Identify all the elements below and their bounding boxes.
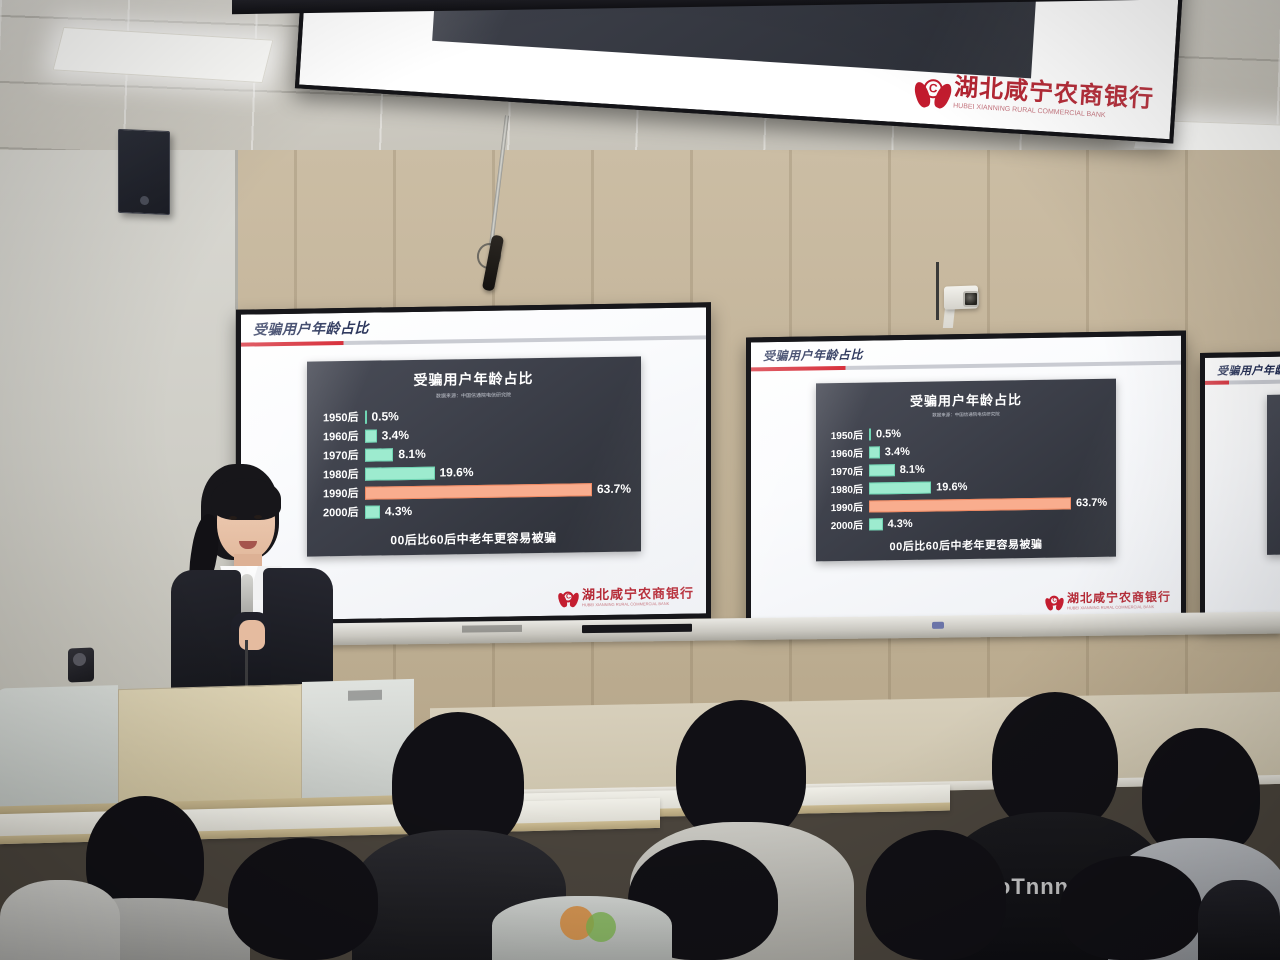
audience-head: [676, 700, 806, 842]
chart-bar: [365, 429, 377, 442]
chart-bar-label: 1980后: [823, 481, 863, 497]
presenter-eye: [229, 516, 237, 520]
chart-bar: [869, 518, 883, 530]
chart-bar-row: 2000后4.3%: [315, 499, 641, 520]
wall-camera-lens-icon: [963, 291, 979, 307]
chart-bar-label: 1950后: [315, 409, 359, 426]
chart-card: 受骗用户年龄占比 数据来源：中国信通院电信研究院 1950后0.5%1960后3…: [307, 356, 641, 556]
audience-shirt-logo: [586, 912, 616, 942]
chart-source: 数据来源：中国信通院电信研究院: [816, 410, 1116, 421]
chart-bar-value: 0.5%: [372, 409, 399, 423]
slide-header-title: 受骗用户年龄占比: [1217, 361, 1280, 379]
chart-bar-row: 1960后3.4%: [823, 441, 1116, 461]
chart-bar-value: 4.3%: [888, 517, 913, 529]
chart-bar: [365, 466, 435, 480]
shelf-indicator: [932, 622, 944, 629]
chart-bar-value: 19.6%: [936, 480, 967, 492]
chart-bar: [869, 464, 895, 476]
chart-bar-row: 1960后3.4%: [315, 423, 641, 444]
slide-header: 受骗用户年龄占比: [751, 336, 1181, 373]
chart-bar-row: 1990后63.7%: [823, 495, 1116, 515]
chart-card: [1267, 392, 1280, 555]
chart-bar-value: 4.3%: [385, 504, 412, 518]
chart-bar-value: 8.1%: [900, 463, 925, 475]
slide-secondary: 受骗用户年龄占比 受骗用户年龄占比 数据来源：中国信通院电信研究院 1950后0…: [751, 336, 1181, 623]
audience-head: [1060, 856, 1202, 960]
third-display[interactable]: 受骗用户年龄占比: [1200, 351, 1280, 625]
wall-camera-arm: [936, 262, 939, 320]
chart-bar-label: 1970后: [823, 463, 863, 479]
podium-front-panel: [118, 684, 302, 809]
chart-bar: [365, 505, 380, 518]
audience-head: [866, 830, 1006, 960]
chart-card: 受骗用户年龄占比 数据来源：中国信通院电信研究院 1950后0.5%1960后3…: [816, 379, 1116, 562]
audience-torso: [1198, 880, 1280, 960]
chart-bar-row: 1970后8.1%: [823, 459, 1116, 479]
presenter: [165, 462, 345, 712]
slide-brand-logo: C 湖北咸宁农商银行 HUBEI XIANNING RURAL COMMERCI…: [559, 587, 694, 608]
chart-bar-value: 63.7%: [1076, 496, 1107, 508]
slide-header-title: 受骗用户年龄占比: [253, 312, 706, 339]
shelf-slot: [582, 624, 692, 633]
secondary-display[interactable]: 受骗用户年龄占比 受骗用户年龄占比 数据来源：中国信通院电信研究院 1950后0…: [746, 331, 1186, 628]
audience-torso: [0, 880, 120, 960]
slide-third: 受骗用户年龄占比: [1205, 356, 1280, 620]
bank-logo-mark-icon: C: [1046, 593, 1063, 610]
presenter-hand: [239, 620, 265, 650]
chart-caption: 00后比60后中老年更容易被骗: [307, 527, 641, 549]
chart-bar-label: 1950后: [823, 427, 863, 443]
bank-name-cn: 湖北咸宁农商银行: [1067, 591, 1171, 605]
chart-caption: 00后比60后中老年更容易被骗: [816, 535, 1116, 556]
podium-left-panel: [0, 685, 118, 808]
chart-title: 受骗用户年龄占比: [816, 388, 1116, 412]
bank-logo-mark-icon: C: [915, 73, 951, 109]
chart-bar-row: 2000后4.3%: [823, 513, 1116, 533]
chart-bar-label: 2000后: [823, 517, 863, 533]
chart-bar: [365, 483, 593, 500]
bank-logo-mark-icon: C: [559, 588, 578, 607]
podium-nameplate: [348, 690, 382, 701]
chart-rows: 1950后0.5%1960后3.4%1970后8.1%1980后19.6%199…: [816, 423, 1116, 533]
chart-bar-value: 3.4%: [885, 445, 910, 457]
chart-bar: [869, 481, 931, 494]
chart-bar-row: 1970后8.1%: [315, 442, 641, 463]
chart-bar-value: 63.7%: [597, 482, 631, 497]
chart-bar: [365, 448, 394, 461]
bank-name-en: HUBEI XIANNING RURAL COMMERCIAL BANK: [1067, 605, 1171, 611]
slide-header: 受骗用户年龄占比: [1205, 356, 1280, 386]
chart-bar-value: 0.5%: [876, 428, 901, 440]
chart-title: 受骗用户年龄占比: [307, 366, 641, 391]
chart-rows: 1950后0.5%1960后3.4%1970后8.1%1980后19.6%199…: [307, 404, 641, 520]
shelf-label: [462, 625, 522, 633]
bank-name-en: HUBEI XIANNING RURAL COMMERCIAL BANK: [582, 602, 694, 608]
bank-logo-text: 湖北咸宁农商银行 HUBEI XIANNING RURAL COMMERCIAL…: [953, 76, 1155, 122]
chart-bar-label: 1960后: [315, 428, 359, 445]
bank-logo-text: 湖北咸宁农商银行 HUBEI XIANNING RURAL COMMERCIAL…: [1067, 591, 1171, 611]
audience-head: [228, 838, 378, 960]
presenter-eye: [254, 515, 262, 519]
bank-logo-text: 湖北咸宁农商银行 HUBEI XIANNING RURAL COMMERCIAL…: [582, 587, 694, 608]
chart-bar-value: 3.4%: [382, 428, 409, 442]
chart-bar-row: 1950后0.5%: [315, 404, 641, 425]
wall-speaker-icon: [118, 129, 170, 215]
chart-source: 数据来源：中国信通院电信研究院: [307, 389, 641, 401]
chart-bar: [365, 410, 367, 423]
lecture-hall-scene: 00后比60后中老年更容易被骗 C 湖北咸宁农商银行 HUBEI XIANNIN…: [0, 0, 1280, 960]
overhead-chart-strip: 00后比60后中老年更容易被骗: [432, 0, 1039, 78]
chart-bar-row: 1980后19.6%: [315, 461, 641, 482]
slide-header: 受骗用户年龄占比: [241, 307, 706, 348]
bank-name-cn: 湖北咸宁农商银行: [582, 587, 694, 602]
chart-bar-label: 1990后: [823, 499, 863, 515]
overhead-brand-logo: C 湖北咸宁农商银行 HUBEI XIANNING RURAL COMMERCI…: [915, 73, 1155, 122]
chart-bar: [869, 446, 880, 458]
presenter-fringe: [211, 478, 281, 520]
slide-header-rule: [1205, 379, 1280, 385]
chart-bar-label: 1960后: [823, 445, 863, 461]
audience-head: [992, 692, 1118, 832]
chart-bar-value: 19.6%: [440, 465, 474, 480]
chart-bar: [869, 428, 871, 440]
chart-bar-value: 8.1%: [398, 447, 425, 461]
chart-bar-row: 1980后19.6%: [823, 477, 1116, 497]
slide-brand-logo: C 湖北咸宁农商银行 HUBEI XIANNING RURAL COMMERCI…: [1046, 591, 1171, 611]
chart-bar-row: 1990后63.7%: [315, 480, 641, 501]
chart-bar-label: 1970后: [315, 447, 359, 464]
chart-bar: [869, 497, 1071, 512]
podium-lamp-icon: [68, 648, 94, 683]
chart-bar-row: 1950后0.5%: [823, 423, 1116, 443]
